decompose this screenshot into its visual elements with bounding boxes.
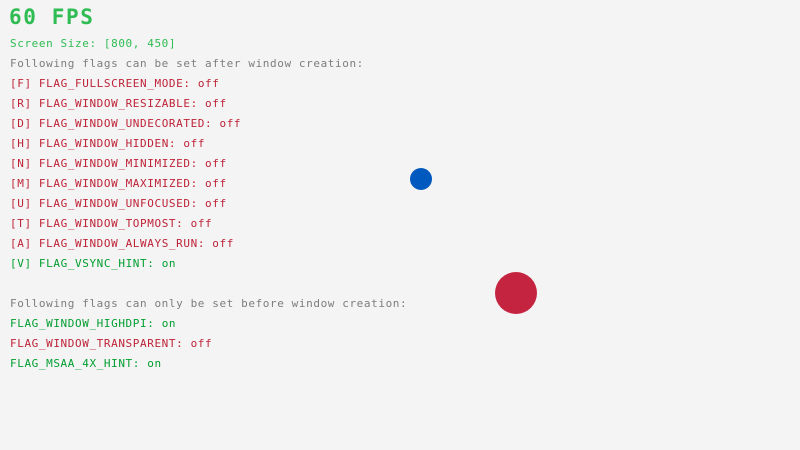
flag-value: on (162, 317, 176, 330)
flag-shortcut-key: [A] (10, 237, 32, 250)
flag-shortcut-key: [U] (10, 197, 32, 210)
flag-row-flag-window-minimized[interactable]: [N] FLAG_WINDOW_MINIMIZED: off (10, 158, 227, 169)
flag-row-flag-window-undecorated[interactable]: [D] FLAG_WINDOW_UNDECORATED: off (10, 118, 241, 129)
raylib-window: 60 FPS Screen Size: [800, 450] Following… (0, 0, 800, 450)
header-after-creation: Following flags can be set after window … (10, 58, 364, 69)
flag-value: off (191, 337, 213, 350)
flag-value: off (219, 117, 241, 130)
flag-row-flag-window-transparent[interactable]: FLAG_WINDOW_TRANSPARENT: off (10, 338, 212, 349)
flag-name: FLAG_WINDOW_HIDDEN (39, 137, 169, 150)
flag-name: FLAG_WINDOW_MAXIMIZED (39, 177, 191, 190)
flag-value: off (183, 137, 205, 150)
flag-shortcut-key: [N] (10, 157, 32, 170)
flag-name: FLAG_WINDOW_HIGHDPI (10, 317, 147, 330)
flag-shortcut-key: [T] (10, 217, 32, 230)
flag-name: FLAG_MSAA_4X_HINT (10, 357, 133, 370)
flag-shortcut-key: [M] (10, 177, 32, 190)
header-before-creation: Following flags can only be set before w… (10, 298, 407, 309)
flag-name: FLAG_WINDOW_TRANSPARENT (10, 337, 176, 350)
flag-name: FLAG_WINDOW_RESIZABLE (39, 97, 191, 110)
flag-value: off (205, 97, 227, 110)
flag-row-flag-window-highdpi[interactable]: FLAG_WINDOW_HIGHDPI: on (10, 318, 176, 329)
flag-row-flag-window-resizable[interactable]: [R] FLAG_WINDOW_RESIZABLE: off (10, 98, 227, 109)
flag-row-flag-window-hidden[interactable]: [H] FLAG_WINDOW_HIDDEN: off (10, 138, 205, 149)
flag-row-flag-window-always-run[interactable]: [A] FLAG_WINDOW_ALWAYS_RUN: off (10, 238, 234, 249)
flag-row-flag-msaa-4x-hint[interactable]: FLAG_MSAA_4X_HINT: on (10, 358, 162, 369)
flag-value: off (212, 237, 234, 250)
flag-row-flag-window-topmost[interactable]: [T] FLAG_WINDOW_TOPMOST: off (10, 218, 212, 229)
text-overlay: 60 FPS Screen Size: [800, 450] Following… (0, 0, 800, 450)
flag-value: on (162, 257, 176, 270)
flag-value: off (205, 157, 227, 170)
flag-shortcut-key: [R] (10, 97, 32, 110)
flag-name: FLAG_WINDOW_UNDECORATED (39, 117, 205, 130)
flag-name: FLAG_FULLSCREEN_MODE (39, 77, 183, 90)
flag-shortcut-key: [V] (10, 257, 32, 270)
flag-row-flag-vsync-hint[interactable]: [V] FLAG_VSYNC_HINT: on (10, 258, 176, 269)
flag-value: on (147, 357, 161, 370)
flag-name: FLAG_WINDOW_ALWAYS_RUN (39, 237, 198, 250)
flag-name: FLAG_WINDOW_UNFOCUSED (39, 197, 191, 210)
flag-value: off (205, 197, 227, 210)
flag-shortcut-key: [D] (10, 117, 32, 130)
flag-shortcut-key: [F] (10, 77, 32, 90)
flag-name: FLAG_VSYNC_HINT (39, 257, 147, 270)
screen-size-label: Screen Size: [800, 450] (10, 38, 176, 49)
flag-value: off (198, 77, 220, 90)
flag-name: FLAG_WINDOW_TOPMOST (39, 217, 176, 230)
flag-row-flag-window-unfocused[interactable]: [U] FLAG_WINDOW_UNFOCUSED: off (10, 198, 227, 209)
flag-value: off (205, 177, 227, 190)
flag-name: FLAG_WINDOW_MINIMIZED (39, 157, 191, 170)
flag-shortcut-key: [H] (10, 137, 32, 150)
fps-counter: 60 FPS (9, 7, 94, 28)
flag-row-flag-window-maximized[interactable]: [M] FLAG_WINDOW_MAXIMIZED: off (10, 178, 227, 189)
flag-value: off (191, 217, 213, 230)
flag-row-flag-fullscreen-mode[interactable]: [F] FLAG_FULLSCREEN_MODE: off (10, 78, 219, 89)
